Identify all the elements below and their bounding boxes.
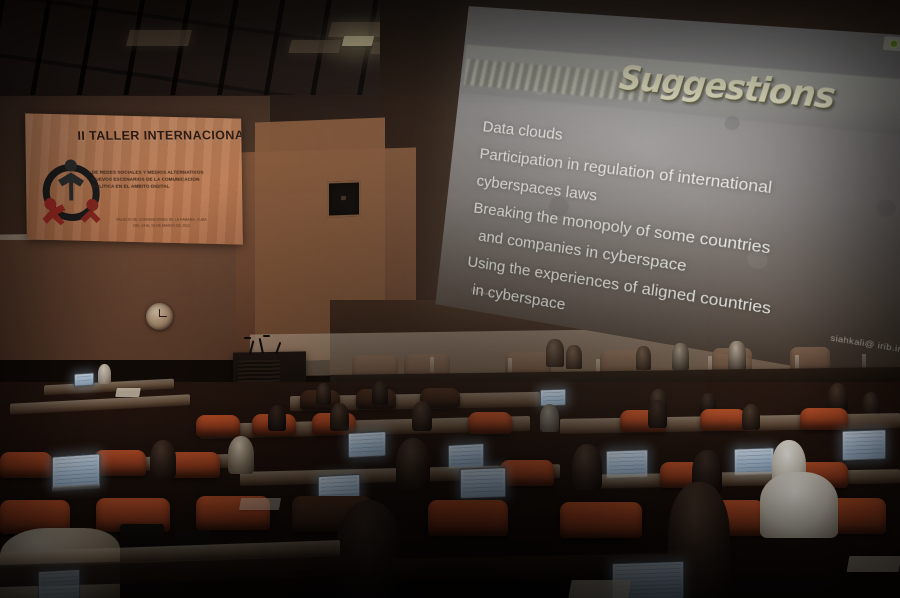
audience-chair xyxy=(0,452,52,478)
delegate-foreground xyxy=(336,500,402,598)
ceiling-light-panel-lit xyxy=(342,36,374,46)
paper-document xyxy=(115,388,141,397)
laptop-screen xyxy=(74,372,94,386)
banner-subtitle-line: DE REDES SOCIALES Y MEDIOS ALTERNATIVOS xyxy=(92,169,238,176)
delegate xyxy=(330,403,349,431)
delegate xyxy=(268,405,286,431)
delegate xyxy=(648,400,667,428)
laptop-screen xyxy=(348,431,386,458)
audience-chair xyxy=(428,500,508,536)
delegate xyxy=(316,383,331,405)
ceiling-light-panel xyxy=(126,30,192,46)
banner-subtitle-line: POLITICA EN EL AMBITO DIGITAL xyxy=(92,183,238,190)
banner-title: II TALLER INTERNACIONAL xyxy=(77,128,237,143)
menu-dot-green-icon[interactable] xyxy=(888,39,899,49)
wall-recess-box xyxy=(327,180,361,217)
panelist xyxy=(728,341,746,370)
delegate xyxy=(150,440,176,478)
panelist xyxy=(546,339,564,367)
delegate xyxy=(742,404,760,430)
audience-chair xyxy=(196,415,240,437)
water-bottle xyxy=(430,357,434,373)
laptop-screen xyxy=(38,569,80,598)
audience-chair xyxy=(700,409,746,431)
laptop-screen xyxy=(540,389,566,407)
delegate xyxy=(540,404,559,432)
banner-footer: PALACIO DE CONVENCIONES DE LA HABANA, CU… xyxy=(96,217,226,229)
conference-hall-photo: II TALLER INTERNACIONAL DE REDES SOCIALE… xyxy=(0,0,900,598)
paper-document xyxy=(568,580,631,598)
audience-chair xyxy=(560,502,642,538)
delegate xyxy=(396,438,430,490)
delegate xyxy=(572,444,602,490)
panelist xyxy=(636,346,651,370)
left-wall-lower-panel xyxy=(0,240,250,360)
delegate xyxy=(828,383,848,411)
laptop-screen xyxy=(842,429,886,461)
audience-chair xyxy=(94,450,146,476)
audience-chair xyxy=(500,460,554,486)
laptop-screen xyxy=(460,467,506,499)
banner-subtitle-line: NUEVOS ESCENARIOS DE LA COMUNICACION xyxy=(92,176,238,183)
paper-document xyxy=(847,556,900,572)
banner-subtitle: DE REDES SOCIALES Y MEDIOS ALTERNATIVOS … xyxy=(92,169,239,190)
panelist xyxy=(566,345,582,369)
banner-footer-line: DEL 14 AL 16 DE MARZO DE 2012 xyxy=(97,223,227,229)
delegate xyxy=(228,436,254,474)
conference-banner: II TALLER INTERNACIONAL DE REDES SOCIALE… xyxy=(25,113,243,244)
laptop-screen xyxy=(448,443,484,469)
delegate-foreground xyxy=(760,472,838,538)
delegate xyxy=(412,401,432,431)
delegate xyxy=(98,364,111,384)
paper-document xyxy=(239,498,281,510)
wall-clock xyxy=(146,303,173,330)
ceiling-light-panel xyxy=(288,40,341,53)
panelist xyxy=(672,343,689,370)
delegate xyxy=(372,381,388,405)
audience-chair xyxy=(800,408,848,430)
audience-chair xyxy=(468,412,512,434)
